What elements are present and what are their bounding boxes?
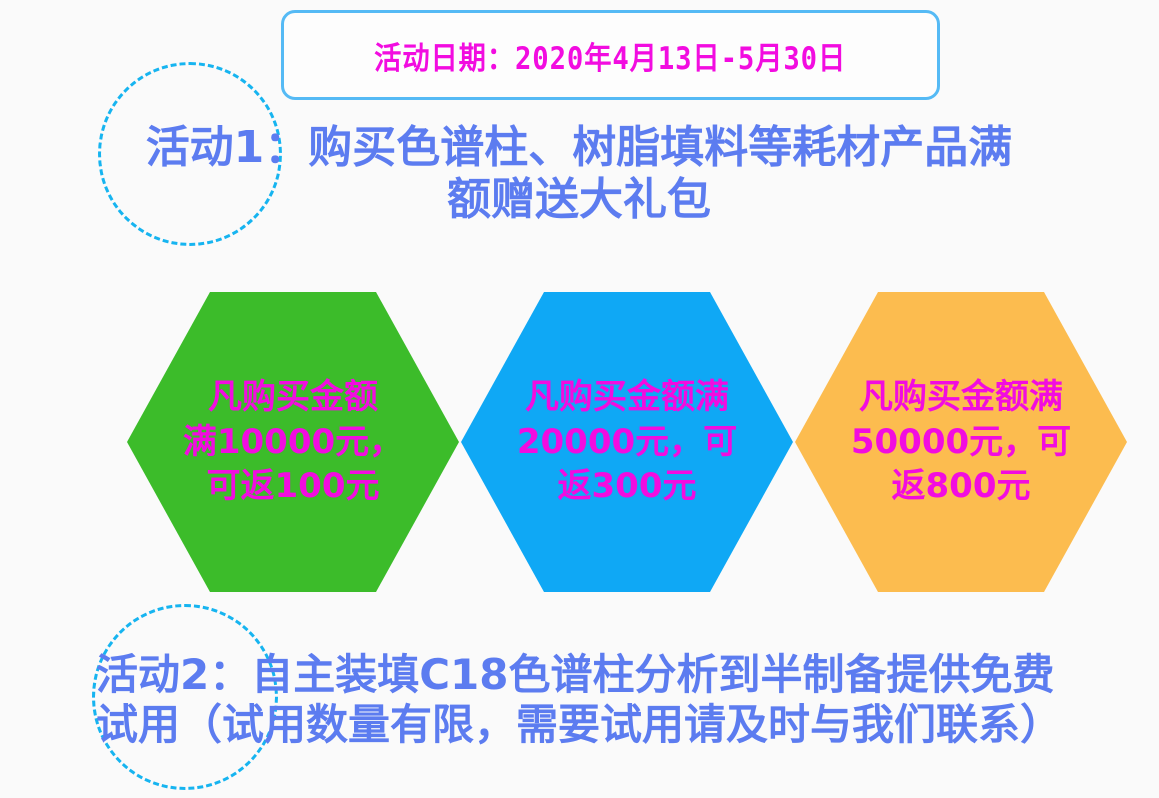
rebate-tier-text-3: 凡购买金额满 50000元，可 返800元 (846, 375, 1076, 510)
activity-1-headline: 活动1：购买色谱柱、树脂填料等耗材产品满 额赠送大礼包 (104, 122, 1054, 226)
promotion-poster: 活动日期：2020年4月13日-5月30日 活动1：购买色谱柱、树脂填料等耗材产… (0, 0, 1159, 798)
rebate-tier-row: 凡购买金额 满10000元， 可返100元 凡购买金额满 20000元，可 返3… (0, 292, 1159, 592)
promotion-date-text: 活动日期：2020年4月13日-5月30日 (375, 33, 847, 78)
rebate-tier-hexagon-2: 凡购买金额满 20000元，可 返300元 (461, 292, 793, 592)
rebate-tier-text-2: 凡购买金额满 20000元，可 返300元 (512, 375, 742, 510)
rebate-tier-hexagon-1: 凡购买金额 满10000元， 可返100元 (127, 292, 459, 592)
rebate-tier-hexagon-3: 凡购买金额满 50000元，可 返800元 (795, 292, 1127, 592)
activity-2-headline: 活动2：自主装填C18色谱柱分析到半制备提供免费 试用（试用数量有限，需要试用请… (96, 650, 1056, 749)
promotion-date-banner: 活动日期：2020年4月13日-5月30日 (281, 10, 940, 100)
rebate-tier-text-1: 凡购买金额 满10000元， 可返100元 (178, 375, 408, 510)
